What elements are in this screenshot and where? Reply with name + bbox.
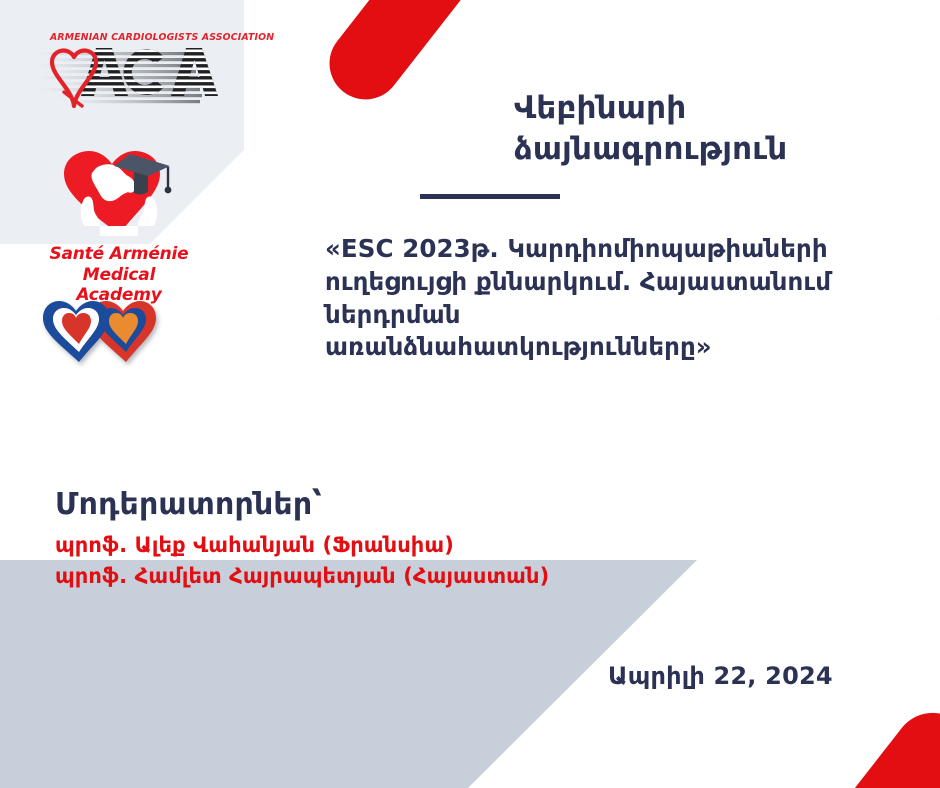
moderators-block: Մոդերատորներ՝ պրոֆ. Ալեք Վահանյան (Ֆրանս…	[55, 486, 675, 593]
sante-armenie-logo-line1: Santé Arménie	[44, 244, 194, 265]
dual-hearts-logo-mark	[34, 282, 168, 368]
aca-logo: ARMENIAN CARDIOLOGISTS ASSOCIATION	[36, 32, 242, 112]
webinar-announcement-slide: ARMENIAN CARDIOLOGISTS ASSOCIATION	[0, 0, 940, 788]
webinar-subject-line-1: «ESC 2023թ. Կարդիոմիոպաթիաների	[325, 233, 885, 266]
headline: Վեբինարի ձայնագրություն	[514, 88, 914, 170]
webinar-subject-line-2: ուղեցույցի քննարկում. Հայաստանում	[325, 266, 885, 299]
headline-divider	[420, 194, 560, 199]
moderators-heading: Մոդերատորներ՝	[55, 486, 675, 524]
sante-armenie-logo-mark	[44, 140, 194, 240]
aca-logo-mark	[36, 32, 242, 112]
moderator-name-1: պրոֆ. Ալեք Վահանյան (Ֆրանսիա)	[55, 530, 675, 562]
webinar-subject: «ESC 2023թ. Կարդիոմիոպաթիաների ուղեցույց…	[325, 233, 885, 364]
headline-line-1: Վեբինարի	[514, 88, 914, 129]
background-red-accent-bottom	[803, 697, 940, 788]
event-date: Ապրիլի 22, 2024	[608, 662, 833, 690]
webinar-subject-line-4: առանձնահատկությունները»	[325, 331, 885, 364]
background-red-accent-bottom-cap	[880, 760, 940, 788]
aca-logo-tagline: ARMENIAN CARDIOLOGISTS ASSOCIATION	[50, 32, 274, 43]
webinar-subject-line-3: ներդրման	[325, 299, 885, 332]
headline-line-2: ձայնագրություն	[514, 129, 914, 170]
background-red-accent-top	[315, 0, 501, 114]
dual-hearts-logo	[34, 282, 168, 368]
moderator-name-2: պրոֆ. Համլետ Հայրապետյան (Հայաստան)	[55, 561, 675, 593]
